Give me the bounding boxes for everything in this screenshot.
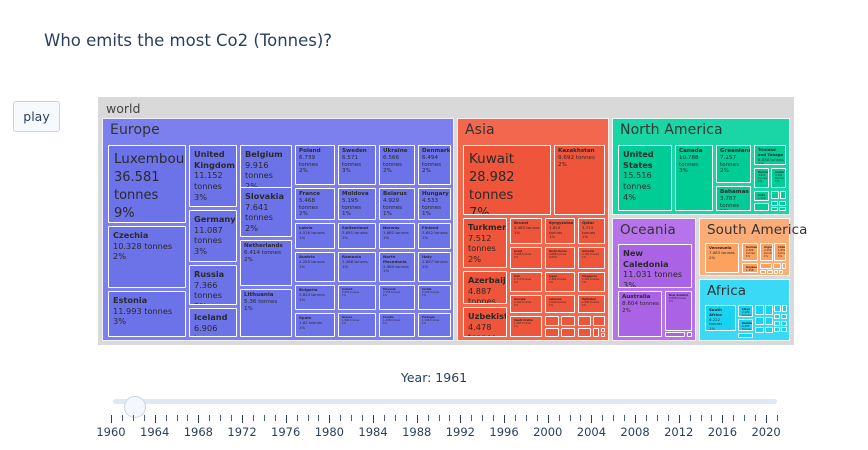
slider-tick — [264, 415, 265, 421]
slider-tick — [297, 415, 298, 421]
treemap-cell[interactable]: Seychelles1.473 tonnes1% — [755, 305, 764, 315]
slider-tick — [690, 415, 691, 421]
treemap-cell-percent: 1% — [669, 300, 690, 303]
treemap-cell-name: Slovakia — [245, 191, 290, 202]
treemap-cell[interactable]: Germany11.087 tonnes3% — [189, 210, 237, 262]
slider-tick — [329, 415, 330, 423]
treemap-cell-percent: 1% — [383, 269, 413, 274]
treemap-cell-percent: 2% — [422, 168, 449, 175]
treemap-cell-name: Canada — [679, 148, 711, 155]
treemap-cell[interactable]: Belarus4.929 tonnes1% — [379, 188, 415, 220]
treemap-cell-value: 7.512 tonnes — [468, 233, 505, 254]
treemap-cell-percent: 1% — [514, 325, 540, 328]
treemap-cell-percent: 1% — [582, 304, 603, 307]
slider-tick — [482, 415, 483, 421]
treemap-cell-percent: 1% — [422, 211, 449, 218]
treemap-group-oceania[interactable]: OceaniaNew Caledonia11.031 tonnes3%Austr… — [612, 218, 696, 341]
treemap-cell-percent: 1% — [342, 211, 374, 218]
treemap-group-africa[interactable]: AfricaSouth Africa6.222 tonnes1%Libya2.1… — [699, 279, 790, 341]
treemap-cell[interactable]: Libya2.129 tonnes1% — [738, 305, 753, 317]
slider-tick — [417, 415, 418, 423]
treemap-cell[interactable]: Zambia0.493 tonnes1% — [738, 319, 753, 331]
treemap-cell-percent: 1% — [582, 256, 603, 259]
treemap-cell[interactable]: Hungary4.533 tonnes1% — [418, 188, 451, 220]
treemap-cell[interactable]: Nicaragua0.387 tonnes1% — [779, 207, 786, 211]
slider-tick — [111, 415, 112, 423]
treemap-group-north_america[interactable]: North AmericaUnited States15.516 tonnes4… — [612, 118, 790, 215]
slider-tick-labels: 1960196419681972197619801984198819921996… — [105, 425, 785, 441]
treemap-group-asia[interactable]: AsiaKuwait28.982 tonnes7%Kazakhstan9.692… — [457, 118, 609, 341]
treemap-cell-name: Estonia — [113, 295, 184, 306]
treemap-cell[interactable]: New Caledonia11.031 tonnes3% — [618, 244, 692, 288]
treemap-cell-percent: 1% — [549, 235, 573, 240]
treemap-cell-name: Luxembourg — [114, 150, 184, 169]
treemap-cell-value: 6.906 tonnes — [194, 323, 235, 337]
treemap-cell[interactable]: Croatia1.438 tonnes1% — [379, 313, 415, 337]
treemap-cell-name: Lithuania — [244, 292, 290, 299]
treemap-cell[interactable]: Mexico0.884 tonnes1% — [754, 203, 769, 211]
treemap-cell[interactable]: Guyana1.338 tonnes1% — [742, 263, 758, 273]
treemap-cell[interactable]: South Africa6.222 tonnes1% — [705, 305, 736, 331]
slider-tick-label: 1980 — [315, 425, 344, 439]
treemap-cell[interactable]: Aruba3.104 tonnes1% — [771, 168, 786, 188]
treemap-cell[interactable]: Kyrgyzstan3.819 tonnes1% — [545, 218, 575, 244]
year-readout: Year: 1961 — [0, 370, 868, 385]
slider-tick — [286, 415, 287, 423]
treemap-cell[interactable]: Armenia2.761 tonnes1% — [578, 247, 605, 269]
treemap-cell[interactable]: Malaysia1.612 tonnes1% — [545, 316, 559, 326]
treemap-cell[interactable]: Kazakhstan9.692 tonnes2% — [554, 145, 605, 215]
slider-tick — [657, 415, 658, 421]
treemap-cell[interactable]: North Korea3.088 tonnes0.00% — [545, 247, 575, 269]
treemap-cell[interactable]: Poland6.739 tonnes2% — [295, 145, 335, 185]
treemap-cell-value: 5.36 tonnes — [244, 299, 290, 306]
treemap-cell[interactable]: Serbia2.534 tonnes1% — [418, 285, 451, 310]
treemap-cell[interactable]: Uruguay1.061 tonnes1% — [760, 263, 772, 269]
year-slider[interactable]: 1960196419681972197619801984198819921996… — [105, 393, 785, 443]
treemap-cell-name: United States — [623, 149, 670, 170]
treemap-cell[interactable]: Nigeria0.096 tonnes1% — [774, 321, 780, 326]
treemap-panel: world EuropeLuxembourg36.581 tonnes9%Uni… — [98, 97, 794, 345]
treemap-group-europe[interactable]: EuropeLuxembourg36.581 tonnes9%United Ki… — [102, 118, 454, 341]
treemap-cell-name: Czechia — [113, 230, 184, 241]
treemap-cell[interactable]: Thailand0.618 tonnes1% — [593, 328, 599, 337]
treemap-cell[interactable]: Netherlands6.414 tonnes2% — [240, 240, 292, 286]
treemap-cell-value: 6.566 tonnes — [383, 155, 413, 169]
treemap-cell-name: France — [299, 191, 333, 198]
treemap-cell[interactable]: Australia8.604 tonnes2% — [618, 291, 662, 337]
treemap-cell-value: 1.338 tonnes — [746, 269, 756, 273]
treemap-cell-percent: 1% — [549, 304, 573, 307]
slider-tick — [209, 415, 210, 421]
treemap-cell[interactable]: Saudi Arabia1.797 tonnes1% — [510, 316, 542, 337]
treemap-cell[interactable]: Jordan0.755 tonnes1% — [578, 328, 591, 337]
treemap-cell[interactable]: Venezuela7.083 tonnes2% — [705, 243, 739, 273]
treemap-cell[interactable]: Angola0.212 tonnes1% — [755, 327, 764, 333]
treemap-cell[interactable]: France5.468 tonnes2% — [295, 188, 335, 220]
treemap-cell[interactable]: Italy2.897 tonnes1% — [418, 252, 451, 282]
slider-tick — [570, 415, 571, 421]
treemap-cell[interactable]: Mongolia1.533 tonnes1% — [561, 316, 575, 326]
treemap-cell-name: Germany — [194, 214, 235, 225]
treemap-cell[interactable]: Ireland3.651 tonnes1% — [338, 285, 376, 310]
slider-tick — [340, 415, 341, 421]
treemap-cell-value: 4.478 tonnes — [468, 322, 505, 337]
treemap-cell[interactable]: Ecuador0.413 tonnes1% — [767, 270, 773, 274]
treemap-cell[interactable]: Romania3.466 tonnes1% — [338, 252, 376, 282]
treemap-cell-value: 4.533 tonnes — [422, 198, 449, 212]
treemap-cell-percent: 1% — [514, 304, 540, 307]
slider-tick — [122, 415, 123, 421]
treemap-cell-percent: 1% — [342, 236, 374, 241]
treemap-cell-percent: 1% — [775, 180, 784, 183]
treemap-cell-percent: 1% — [299, 236, 333, 241]
treemap-cell-name: Kuwait — [469, 150, 549, 169]
treemap-cell[interactable]: United States15.516 tonnes4% — [618, 145, 672, 211]
slider-tick — [559, 415, 560, 421]
treemap-cell-percent: 3% — [194, 246, 235, 257]
treemap-cell[interactable]: Morocco0.404 tonnes1% — [755, 317, 764, 325]
treemap-cell-percent: 1% — [709, 327, 734, 331]
slider-tick — [722, 415, 723, 423]
treemap-cell[interactable]: Spain1.62 tonnes1% — [295, 313, 335, 337]
treemap-cell[interactable]: Luxembourg36.581 tonnes9% — [108, 145, 186, 223]
treemap-cell-percent: 1% — [383, 322, 413, 325]
treemap-cell-percent: 1% — [720, 209, 749, 211]
slider-tick — [711, 415, 712, 421]
treemap-cell[interactable]: Kenya0.183 tonnes1% — [765, 327, 773, 333]
treemap-cell[interactable]: Senegal0.292 tonnes1% — [774, 314, 780, 319]
treemap-cell[interactable]: Chile1.652 tonnes1% — [774, 243, 786, 261]
slider-tick-label: 1976 — [271, 425, 300, 439]
treemap-cell[interactable]: Bahamas3.787 tonnes1% — [716, 186, 751, 211]
slider-tick — [242, 415, 243, 423]
treemap-cell-name: Kazakhstan — [558, 148, 603, 155]
slider-tick-label: 1960 — [96, 425, 125, 439]
treemap-group-label: Asia — [465, 122, 495, 138]
slider-tick-label: 1988 — [402, 425, 431, 439]
treemap-cell-percent: 9% — [114, 205, 184, 223]
slider-tick — [471, 415, 472, 421]
slider-tick — [166, 415, 167, 421]
treemap-cell-percent: 3% — [342, 168, 374, 175]
treemap-cell[interactable]: Denmark6.494 tonnes2% — [418, 145, 451, 185]
treemap-cell[interactable]: Brazil0.643 tonnes1% — [773, 263, 781, 269]
treemap-cell[interactable]: Jamaica0.989 tonnes1% — [780, 191, 786, 199]
treemap-cell-name: Iceland — [194, 312, 235, 323]
treemap-cell[interactable]: Paraguay0.189 tonnes1% — [779, 270, 783, 274]
slider-tick — [504, 415, 505, 423]
treemap-cell-name: Denmark — [422, 148, 449, 155]
treemap-cell-percent: 2% — [383, 168, 413, 175]
treemap-root-label: world — [106, 101, 140, 116]
slider-tick — [155, 415, 156, 423]
treemap-cell[interactable]: Switzerland3.691 tonnes1% — [338, 223, 376, 249]
treemap-cell[interactable]: Bulgaria3.624 tonnes1% — [295, 285, 335, 310]
treemap-cell[interactable]: Fiji0.564 tonnes1% — [665, 332, 685, 337]
treemap-cell[interactable]: Suriname2.366 tonnes1% — [742, 243, 758, 261]
treemap-cell-name: Bahamas — [720, 189, 749, 196]
slider-tick-label: 1996 — [489, 425, 518, 439]
slider-tick — [144, 415, 145, 421]
slider-tick-label: 1984 — [358, 425, 387, 439]
treemap-cell[interactable]: Austria4.255 tonnes1% — [295, 252, 335, 282]
slider-tick — [133, 415, 134, 421]
treemap-cell-name: Australia — [622, 294, 660, 301]
treemap-cell[interactable]: Uganda0.032 tonnes1% — [738, 333, 753, 338]
slider-tick — [613, 415, 614, 421]
slider-tick — [460, 415, 461, 423]
treemap-cell-name: Sweden — [342, 148, 374, 155]
treemap-cell[interactable]: Bolivia0.287 tonnes1% — [774, 270, 778, 274]
treemap-cell-name: United Kingdom — [194, 149, 235, 170]
slider-tick — [198, 415, 199, 423]
treemap-cell[interactable]: Indonesia0.387 tonnes1% — [601, 333, 605, 337]
treemap-cell-name: New Caledonia — [623, 248, 690, 269]
treemap-cell[interactable]: Bermuda3.211 tonnes1% — [754, 168, 769, 188]
treemap-cell[interactable]: Costa Rica0.643 tonnes1% — [771, 201, 778, 206]
slider-tick — [220, 415, 221, 421]
treemap-cell[interactable]: Iraq0.995 tonnes1% — [545, 328, 559, 337]
slider-track[interactable] — [113, 399, 777, 404]
treemap-cell[interactable]: Cuba1.219 tonnes1% — [754, 191, 769, 201]
slider-tick — [766, 415, 767, 423]
treemap-cell-name: Greenland — [720, 148, 749, 155]
treemap-cell[interactable]: Algeria0.761 tonnes1% — [765, 305, 773, 315]
slider-tick-label: 1972 — [227, 425, 256, 439]
treemap-cell-name: Ukraine — [383, 148, 413, 155]
treemap-cell-value: 11.152 tonnes — [194, 170, 235, 191]
treemap-canvas[interactable]: EuropeLuxembourg36.581 tonnes9%United Ki… — [102, 118, 790, 341]
treemap-cell-percent: 1% — [582, 235, 603, 240]
treemap-cell-value: 10.788 tonnes — [679, 155, 711, 169]
treemap-cell[interactable]: Slovakia7.641 tonnes2% — [240, 187, 292, 237]
treemap-cell[interactable]: Tanzania0.064 tonnes1% — [774, 327, 780, 332]
treemap-cell[interactable]: Lithuania5.36 tonnes1% — [240, 289, 292, 337]
slider-tick — [602, 415, 603, 421]
treemap-cell[interactable]: Japan2.409 tonnes1% — [545, 272, 575, 292]
treemap-cell[interactable]: Sudan0.086 tonnes1% — [781, 321, 787, 326]
slider-tick — [493, 415, 494, 421]
treemap-cell-value: 6.494 tonnes — [422, 155, 449, 169]
treemap-cell-percent: 1% — [514, 231, 540, 236]
treemap-cell-value: 9.916 tonnes — [245, 160, 290, 181]
slider-tick-label: 2020 — [751, 425, 780, 439]
slider-tick — [744, 415, 745, 421]
treemap-cell[interactable]: Turkmenistan7.512 tonnes2% — [463, 218, 507, 268]
slider-tick — [428, 415, 429, 421]
treemap-cell[interactable]: Dominican Rep.0.432 tonnes1% — [771, 207, 778, 211]
treemap-group-south_america[interactable]: South AmericaVenezuela7.083 tonnes2%Suri… — [699, 218, 790, 276]
treemap-cell-name: Netherlands — [244, 243, 290, 250]
treemap-cell[interactable]: Czechia10.328 tonnes2% — [108, 226, 186, 288]
slider-tick — [537, 415, 538, 421]
treemap-cell-value: 11.087 tonnes — [194, 225, 235, 246]
treemap-cell-percent: 4% — [623, 192, 670, 203]
treemap-cell-percent: 2% — [245, 223, 290, 234]
treemap-group-label: Africa — [707, 283, 746, 299]
play-button[interactable]: play — [13, 101, 60, 132]
slider-tick — [253, 415, 254, 421]
treemap-cell[interactable]: Egypt0.531 tonnes1% — [782, 305, 787, 312]
treemap-cell[interactable]: Canada10.788 tonnes3% — [675, 145, 713, 211]
treemap-cell[interactable]: Colombia0.545 tonnes1% — [760, 270, 766, 274]
treemap-cell-value: 36.581 tonnes — [114, 169, 184, 205]
treemap-cell[interactable]: Lebanon2.043 tonnes1% — [545, 295, 575, 313]
treemap-cell-percent: 2% — [244, 257, 290, 264]
treemap-cell[interactable]: Uzbekistan4.478 tonnes1% — [463, 307, 507, 337]
treemap-cell[interactable]: Finland3.652 tonnes1% — [418, 223, 451, 249]
treemap-cell[interactable]: Zimbabwe0.398 tonnes1% — [765, 317, 773, 325]
slider-tick — [406, 415, 407, 421]
slider-tick — [351, 415, 352, 421]
treemap-cell-name: Uzbekistan — [468, 311, 505, 322]
treemap-group-label: Europe — [110, 122, 160, 138]
treemap-cell[interactable]: Slovenia2.758 tonnes1% — [379, 285, 415, 310]
slider-tick-label: 2000 — [533, 425, 562, 439]
slider-tick — [187, 415, 188, 421]
slider-tick — [733, 415, 734, 421]
treemap-cell[interactable]: Panama1.116 tonnes1% — [771, 191, 779, 199]
treemap-cell-percent: 1% — [764, 255, 771, 258]
slider-tick — [646, 415, 647, 421]
treemap-group-label: South America — [707, 222, 808, 238]
treemap-cell-value: 3.787 tonnes — [720, 196, 749, 210]
treemap-cell[interactable]: Ukraine6.566 tonnes2% — [379, 145, 415, 185]
treemap-cell-value: 11.993 tonnes — [113, 306, 184, 317]
treemap-cell[interactable]: Kuwait28.982 tonnes7% — [463, 145, 551, 215]
treemap-cell-name: Turkmenistan — [468, 222, 505, 233]
slider-tick — [362, 415, 363, 421]
treemap-cell[interactable]: Argentina2.119 tonnes1% — [760, 243, 773, 261]
treemap-cell[interactable]: New Zealand4.658 tonnes1% — [665, 291, 692, 331]
slider-tick — [308, 415, 309, 421]
page-title: Who emits the most Co2 (Tonnes)? — [44, 31, 332, 50]
slider-tick-label: 2016 — [708, 425, 737, 439]
treemap-cell[interactable]: Philippines0.542 tonnes1% — [601, 328, 605, 332]
treemap-cell-value: 6.739 tonnes — [299, 155, 333, 169]
treemap-cell-percent: 2% — [468, 254, 505, 265]
treemap-cell[interactable]: Moldova5.195 tonnes1% — [338, 188, 376, 220]
treemap-cell-value: 5.468 tonnes — [299, 198, 333, 212]
treemap-cell-percent: 2% — [558, 162, 603, 169]
treemap-cell[interactable]: North Macedonia2.985 tonnes1% — [379, 252, 415, 282]
slider-tick — [515, 415, 516, 421]
treemap-cell[interactable]: Singapore2.261 tonnes1% — [578, 272, 605, 292]
slider-tick — [373, 415, 374, 423]
treemap-cell-value: 6.571 tonnes — [342, 155, 374, 169]
treemap-cell-percent: 1% — [582, 281, 603, 284]
treemap-cell-value: 15.516 tonnes — [623, 170, 670, 191]
app-root: Who emits the most Co2 (Tonnes)? play wo… — [0, 0, 868, 450]
treemap-cell-percent: 1% — [514, 281, 540, 284]
treemap-cell[interactable]: Greece1.562 tonnes1% — [338, 313, 376, 337]
treemap-cell-percent: 2% — [709, 256, 737, 261]
treemap-cell[interactable]: Ghana0.241 tonnes1% — [781, 314, 787, 319]
slider-tick — [679, 415, 680, 423]
treemap-cell[interactable]: Qatar3.713 tonnes1% — [578, 218, 605, 244]
treemap-cell[interactable]: Greenland7.157 tonnes2% — [716, 145, 751, 183]
slider-tick — [777, 415, 778, 421]
treemap-cell[interactable]: Estonia11.993 tonnes3% — [108, 291, 186, 337]
treemap-cell-value: 7.366 tonnes — [194, 280, 235, 301]
slider-tick — [395, 415, 396, 421]
slider-tick — [318, 415, 319, 421]
slider-tick — [635, 415, 636, 423]
treemap-cell-percent: 1% — [549, 281, 573, 284]
treemap-cell-value: 5.195 tonnes — [342, 198, 374, 212]
treemap-cell[interactable]: Tajikistan1.904 tonnes1% — [578, 295, 605, 313]
treemap-cell[interactable]: Papua New Guinea0.312 tonnes1% — [687, 332, 692, 337]
slider-tick — [449, 415, 450, 421]
slider-tick — [580, 415, 581, 421]
treemap-cell[interactable]: Barbados0.577 tonnes1% — [779, 201, 786, 206]
treemap-cell[interactable]: Ethiopia0.044 tonnes1% — [781, 327, 787, 332]
treemap-group-label: North America — [620, 122, 723, 138]
treemap-cell[interactable]: Portugal1.136 tonnes1% — [418, 313, 451, 337]
treemap-cell-value: 0.493 tonnes — [742, 325, 751, 331]
treemap-cell[interactable]: Trinidad and Tobago6.036 tonnes1% — [754, 145, 786, 165]
treemap-cell-percent: 3% — [113, 316, 184, 327]
treemap-cell-name: Belarus — [383, 191, 413, 198]
treemap-cell-value: 8.604 tonnes — [622, 301, 660, 308]
treemap-cell-name: Azerbaijan — [468, 275, 505, 286]
treemap-cell-percent: 1% — [244, 306, 290, 313]
treemap-cell-value: 2.129 tonnes — [742, 311, 751, 317]
treemap-cell[interactable]: Tunisia0.544 tonnes1% — [774, 305, 781, 312]
treemap-cell-percent: 1% — [514, 256, 540, 259]
treemap-cell-value: 28.982 tonnes — [469, 169, 549, 205]
treemap-cell-percent: 1% — [422, 322, 449, 325]
slider-tick — [548, 415, 549, 423]
slider-tick-label: 2012 — [664, 425, 693, 439]
treemap-cell[interactable]: Brunei4.083 tonnes1% — [510, 218, 542, 244]
treemap-cell-percent: 2% — [299, 211, 333, 218]
treemap-cell[interactable]: Georgia2.191 tonnes1% — [510, 295, 542, 313]
treemap-cell[interactable]: Iceland6.906 tonnes2% — [189, 308, 237, 337]
treemap-cell[interactable]: Israel3.298 tonnes1% — [510, 247, 542, 269]
treemap-cell-percent: 2% — [194, 301, 235, 305]
treemap-cell[interactable]: Russia7.366 tonnes2% — [189, 265, 237, 305]
slider-tick-label: 1968 — [184, 425, 213, 439]
treemap-cell-value: 7.157 tonnes — [720, 155, 749, 169]
treemap-cell[interactable]: Latvia4.516 tonnes1% — [295, 223, 335, 249]
treemap-cell[interactable]: Norway3.682 tonnes1% — [379, 223, 415, 249]
treemap-cell-percent: 1% — [383, 294, 413, 297]
treemap-cell[interactable]: Iran2.713 tonnes1% — [510, 272, 542, 292]
slider-tick — [231, 415, 232, 421]
slider-tick — [177, 415, 178, 421]
treemap-cell-value: 1.219 tonnes — [758, 197, 767, 201]
treemap-cell[interactable]: Sweden6.571 tonnes3% — [338, 145, 376, 185]
treemap-cell[interactable]: China1.088 tonnes1% — [593, 316, 605, 326]
treemap-cell-value: 10.328 tonnes — [113, 241, 184, 252]
treemap-cell[interactable]: United Kingdom11.152 tonnes3% — [189, 145, 237, 207]
treemap-cell-percent: 1% — [383, 236, 413, 241]
treemap-cell[interactable]: Peru0.578 tonnes1% — [782, 263, 786, 269]
treemap-cell-percent: 1% — [342, 322, 374, 325]
treemap-cell-value: 4.887 tonnes — [468, 286, 505, 304]
treemap-cell[interactable]: Syria0.864 tonnes1% — [561, 328, 575, 337]
treemap-cell[interactable]: Azerbaijan4.887 tonnes1% — [463, 271, 507, 304]
treemap-cell[interactable]: Turkey1.276 tonnes1% — [578, 316, 591, 326]
slider-tick — [701, 415, 702, 421]
slider-tick — [384, 415, 385, 421]
treemap-cell-value: 4.929 tonnes — [383, 198, 413, 212]
slider-tick — [591, 415, 592, 423]
treemap-cell-percent: 1% — [422, 265, 449, 270]
treemap-cell-percent: 3% — [679, 168, 711, 175]
